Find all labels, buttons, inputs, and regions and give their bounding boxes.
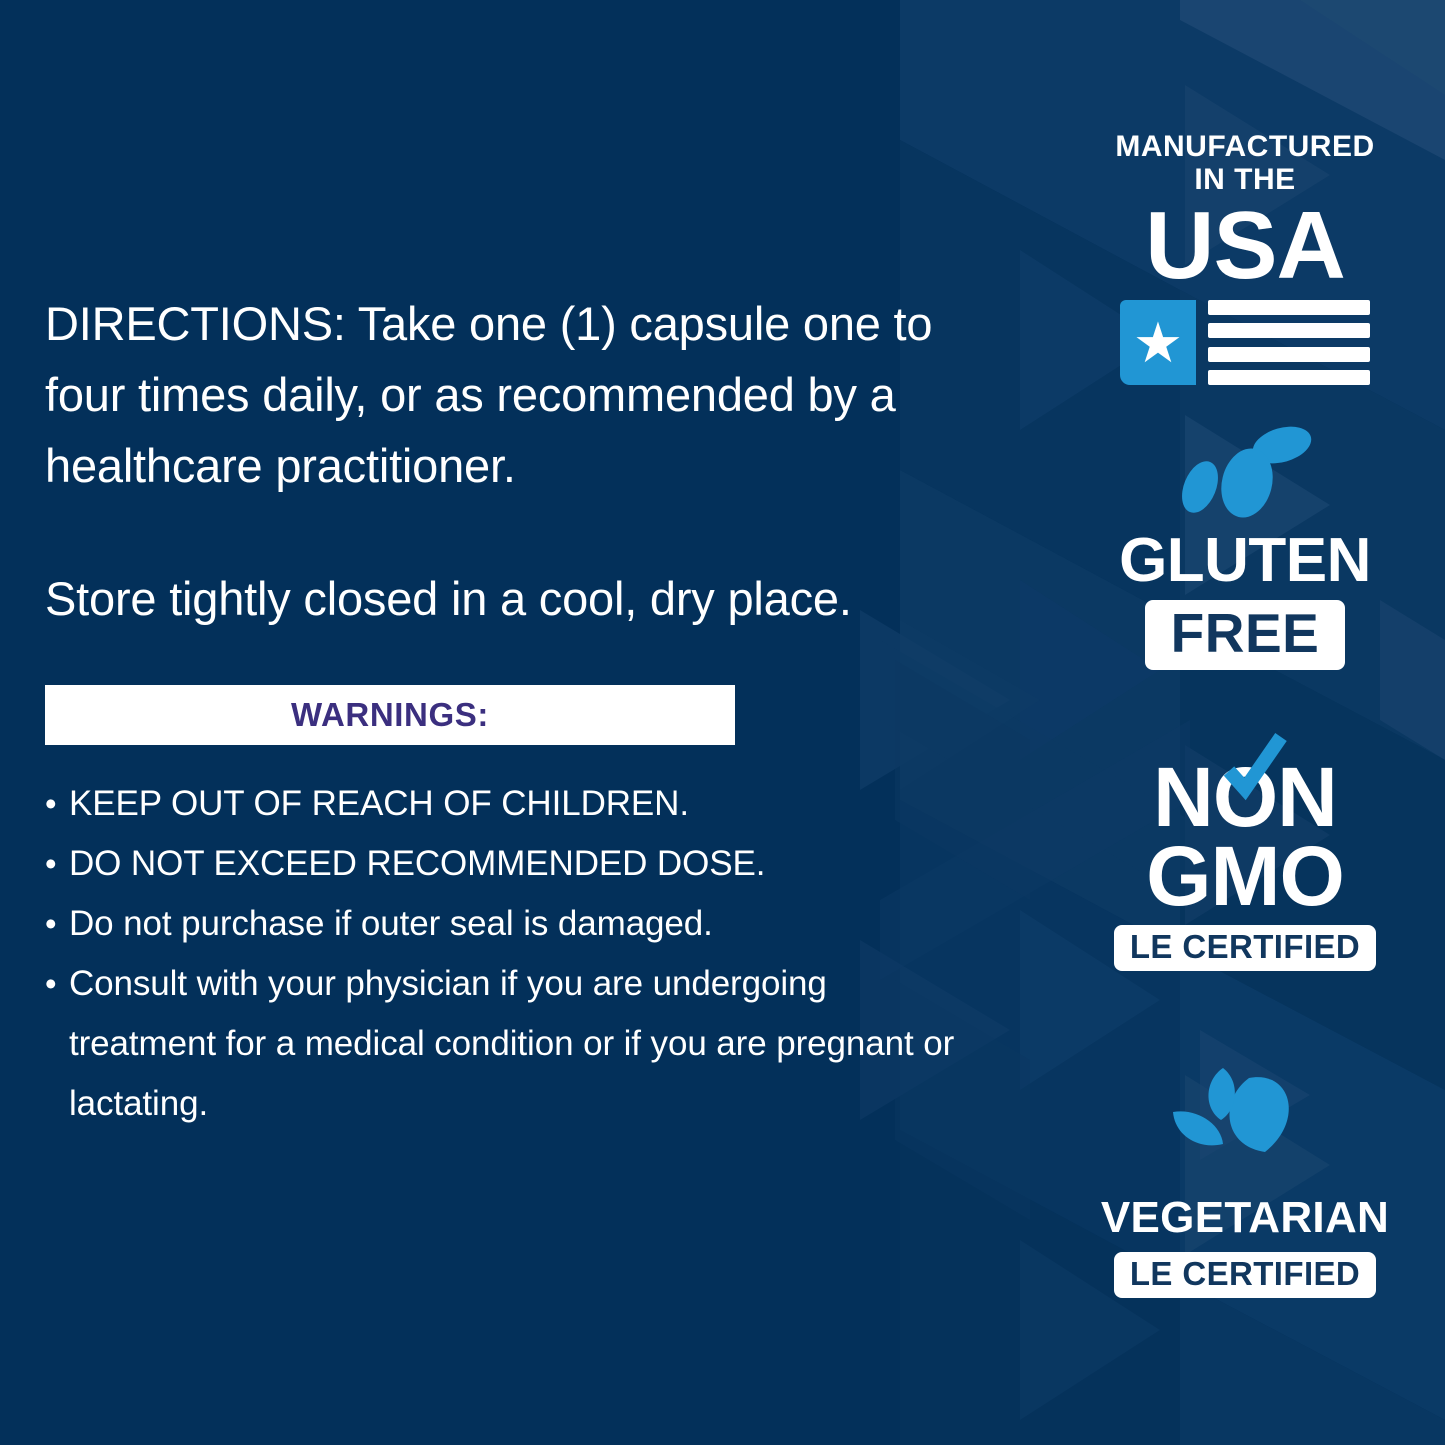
warnings-header-bar: WARNINGS: xyxy=(45,685,735,745)
badge-manufactured-in-usa: MANUFACTURED IN THE USA ★ xyxy=(1045,130,1445,385)
non-gmo-line-2: GMO xyxy=(1146,833,1344,919)
warning-text: KEEP OUT OF REACH OF CHILDREN. xyxy=(69,774,990,834)
warning-text: DO NOT EXCEED RECOMMENDED DOSE. xyxy=(69,834,990,894)
directions-block: DIRECTIONS: Take one (1) capsule one to … xyxy=(45,288,990,501)
leaves-icon xyxy=(1153,1050,1338,1170)
vegetarian-certification-banner: LE CERTIFIED xyxy=(1114,1252,1376,1298)
badge-non-gmo: N O N GMO LE CERTIFIED xyxy=(1045,755,1445,971)
warning-item: • Do not purchase if outer seal is damag… xyxy=(45,894,990,954)
flag-canton: ★ xyxy=(1120,300,1196,385)
supplement-label-panel: DIRECTIONS: Take one (1) capsule one to … xyxy=(0,0,1445,1445)
warnings-title: WARNINGS: xyxy=(291,696,489,734)
bullet-icon: • xyxy=(45,894,69,954)
bullet-icon: • xyxy=(45,954,69,1014)
non-gmo-certification-banner: LE CERTIFIED xyxy=(1114,925,1376,971)
non-gmo-line-1: N O N xyxy=(1153,755,1337,839)
warning-item: • Consult with your physician if you are… xyxy=(45,954,990,1134)
warning-item: • DO NOT EXCEED RECOMMENDED DOSE. xyxy=(45,834,990,894)
gluten-free-banner-text: FREE xyxy=(1171,602,1320,664)
directions-line-1: DIRECTIONS: Take one (1) capsule one to xyxy=(45,288,990,359)
grain-leaves-icon xyxy=(1170,425,1320,520)
storage-instructions-block: Store tightly closed in a cool, dry plac… xyxy=(45,563,990,634)
flag-stripe xyxy=(1208,370,1370,385)
vegetarian-certification-text: LE CERTIFIED xyxy=(1130,1255,1360,1292)
certification-badge-column: MANUFACTURED IN THE USA ★ xyxy=(1045,0,1445,1445)
warning-text: Consult with your physician if you are u… xyxy=(69,954,969,1134)
bullet-icon: • xyxy=(45,774,69,834)
checkmark-icon xyxy=(1215,731,1289,805)
bullet-icon: • xyxy=(45,834,69,894)
non-gmo-certification-text: LE CERTIFIED xyxy=(1130,928,1360,965)
warning-item: • KEEP OUT OF REACH OF CHILDREN. xyxy=(45,774,990,834)
non-gmo-o-with-check: O xyxy=(1213,755,1277,839)
usa-flag-icon: ★ xyxy=(1120,300,1370,385)
warnings-list: • KEEP OUT OF REACH OF CHILDREN. • DO NO… xyxy=(45,774,990,1134)
gluten-free-word: GLUTEN xyxy=(1119,530,1371,592)
badge-vegetarian: VEGETARIAN LE CERTIFIED xyxy=(1045,1050,1445,1298)
star-icon: ★ xyxy=(1133,315,1183,371)
directions-line-3: healthcare practitioner. xyxy=(45,430,990,501)
flag-stripes xyxy=(1208,300,1370,385)
flag-stripe xyxy=(1208,300,1370,315)
warning-text: Do not purchase if outer seal is damaged… xyxy=(69,894,990,954)
usa-badge-line-1: MANUFACTURED xyxy=(1115,130,1374,163)
directions-line-2: four times daily, or as recommended by a xyxy=(45,359,990,430)
storage-line-1: Store tightly closed in a cool, dry plac… xyxy=(45,563,990,634)
badge-gluten-free: GLUTEN FREE xyxy=(1045,425,1445,670)
usa-badge-word: USA xyxy=(1145,198,1345,294)
flag-stripe xyxy=(1208,347,1370,362)
non-gmo-n1: N xyxy=(1153,755,1213,839)
gluten-free-banner: FREE xyxy=(1145,600,1346,670)
vegetarian-word: VEGETARIAN xyxy=(1101,1194,1389,1242)
flag-stripe xyxy=(1208,323,1370,338)
label-text-column: DIRECTIONS: Take one (1) capsule one to … xyxy=(45,0,1005,1445)
